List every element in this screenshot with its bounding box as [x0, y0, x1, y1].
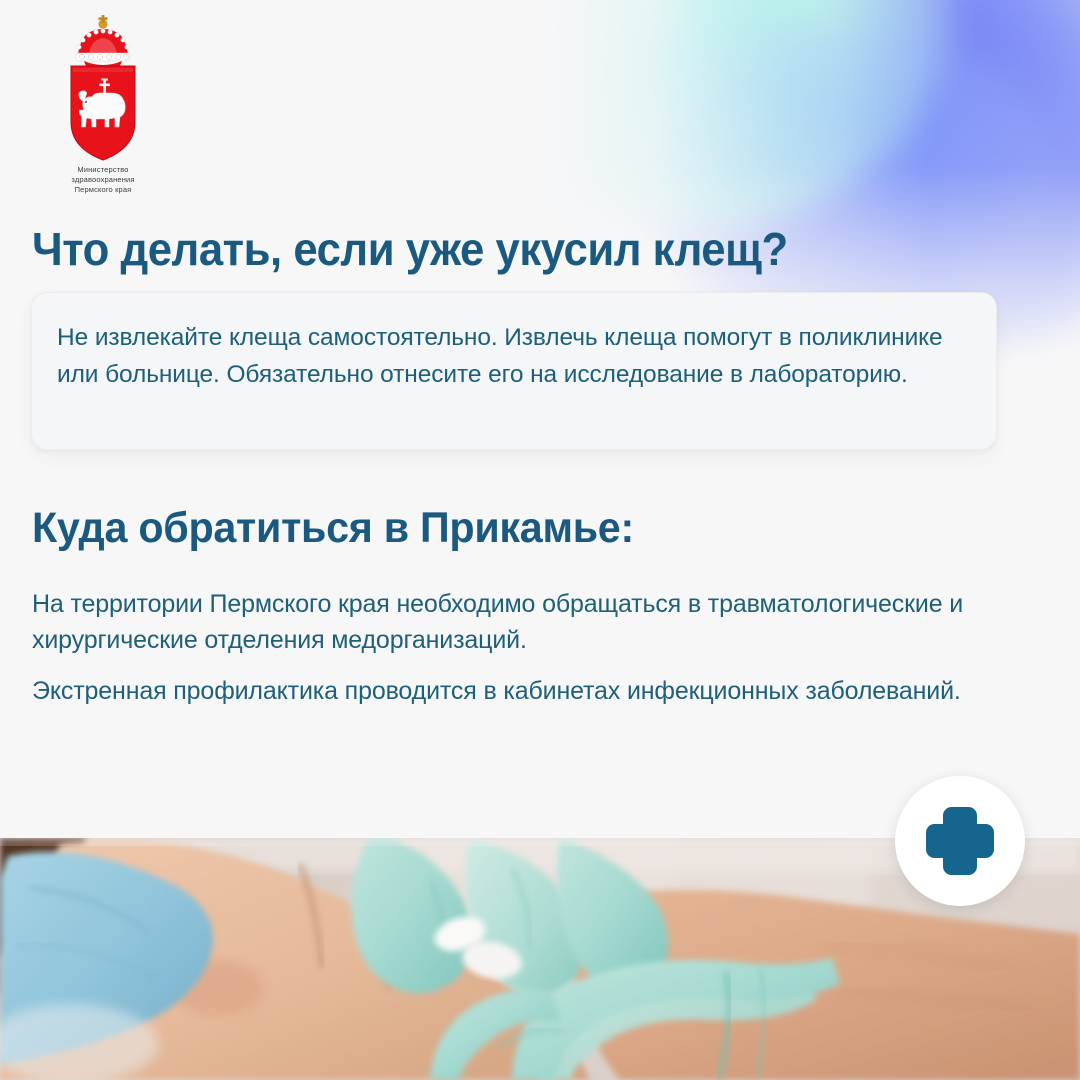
callout-box: Не извлекайте клеща самостоятельно. Извл… — [31, 292, 997, 450]
logo-caption-line-3: Пермского края — [28, 185, 178, 195]
gradient-blob-cyan — [430, 0, 950, 230]
main-heading: Что делать, если уже укусил клещ? — [32, 222, 944, 276]
medical-plus-badge — [895, 776, 1025, 906]
logo-caption-line-1: Министерство — [28, 165, 178, 175]
secondary-heading: Куда обратиться в Прикамье: — [32, 504, 896, 553]
medical-plus-icon — [922, 803, 998, 879]
ministry-logo-caption: Министерство здравоохранения Пермского к… — [28, 165, 178, 195]
callout-text: Не извлекайте клеща самостоятельно. Извл… — [57, 319, 978, 393]
body-paragraph-1: На территории Пермского края необходимо … — [32, 586, 992, 659]
perm-krai-coat-of-arms-icon — [62, 14, 144, 162]
logo-caption-line-2: здравоохранения — [28, 175, 178, 185]
ministry-logo: Министерство здравоохранения Пермского к… — [28, 14, 178, 195]
poster-canvas: Министерство здравоохранения Пермского к… — [0, 0, 1080, 1080]
body-paragraph-2: Экстренная профилактика проводится в каб… — [32, 673, 992, 709]
